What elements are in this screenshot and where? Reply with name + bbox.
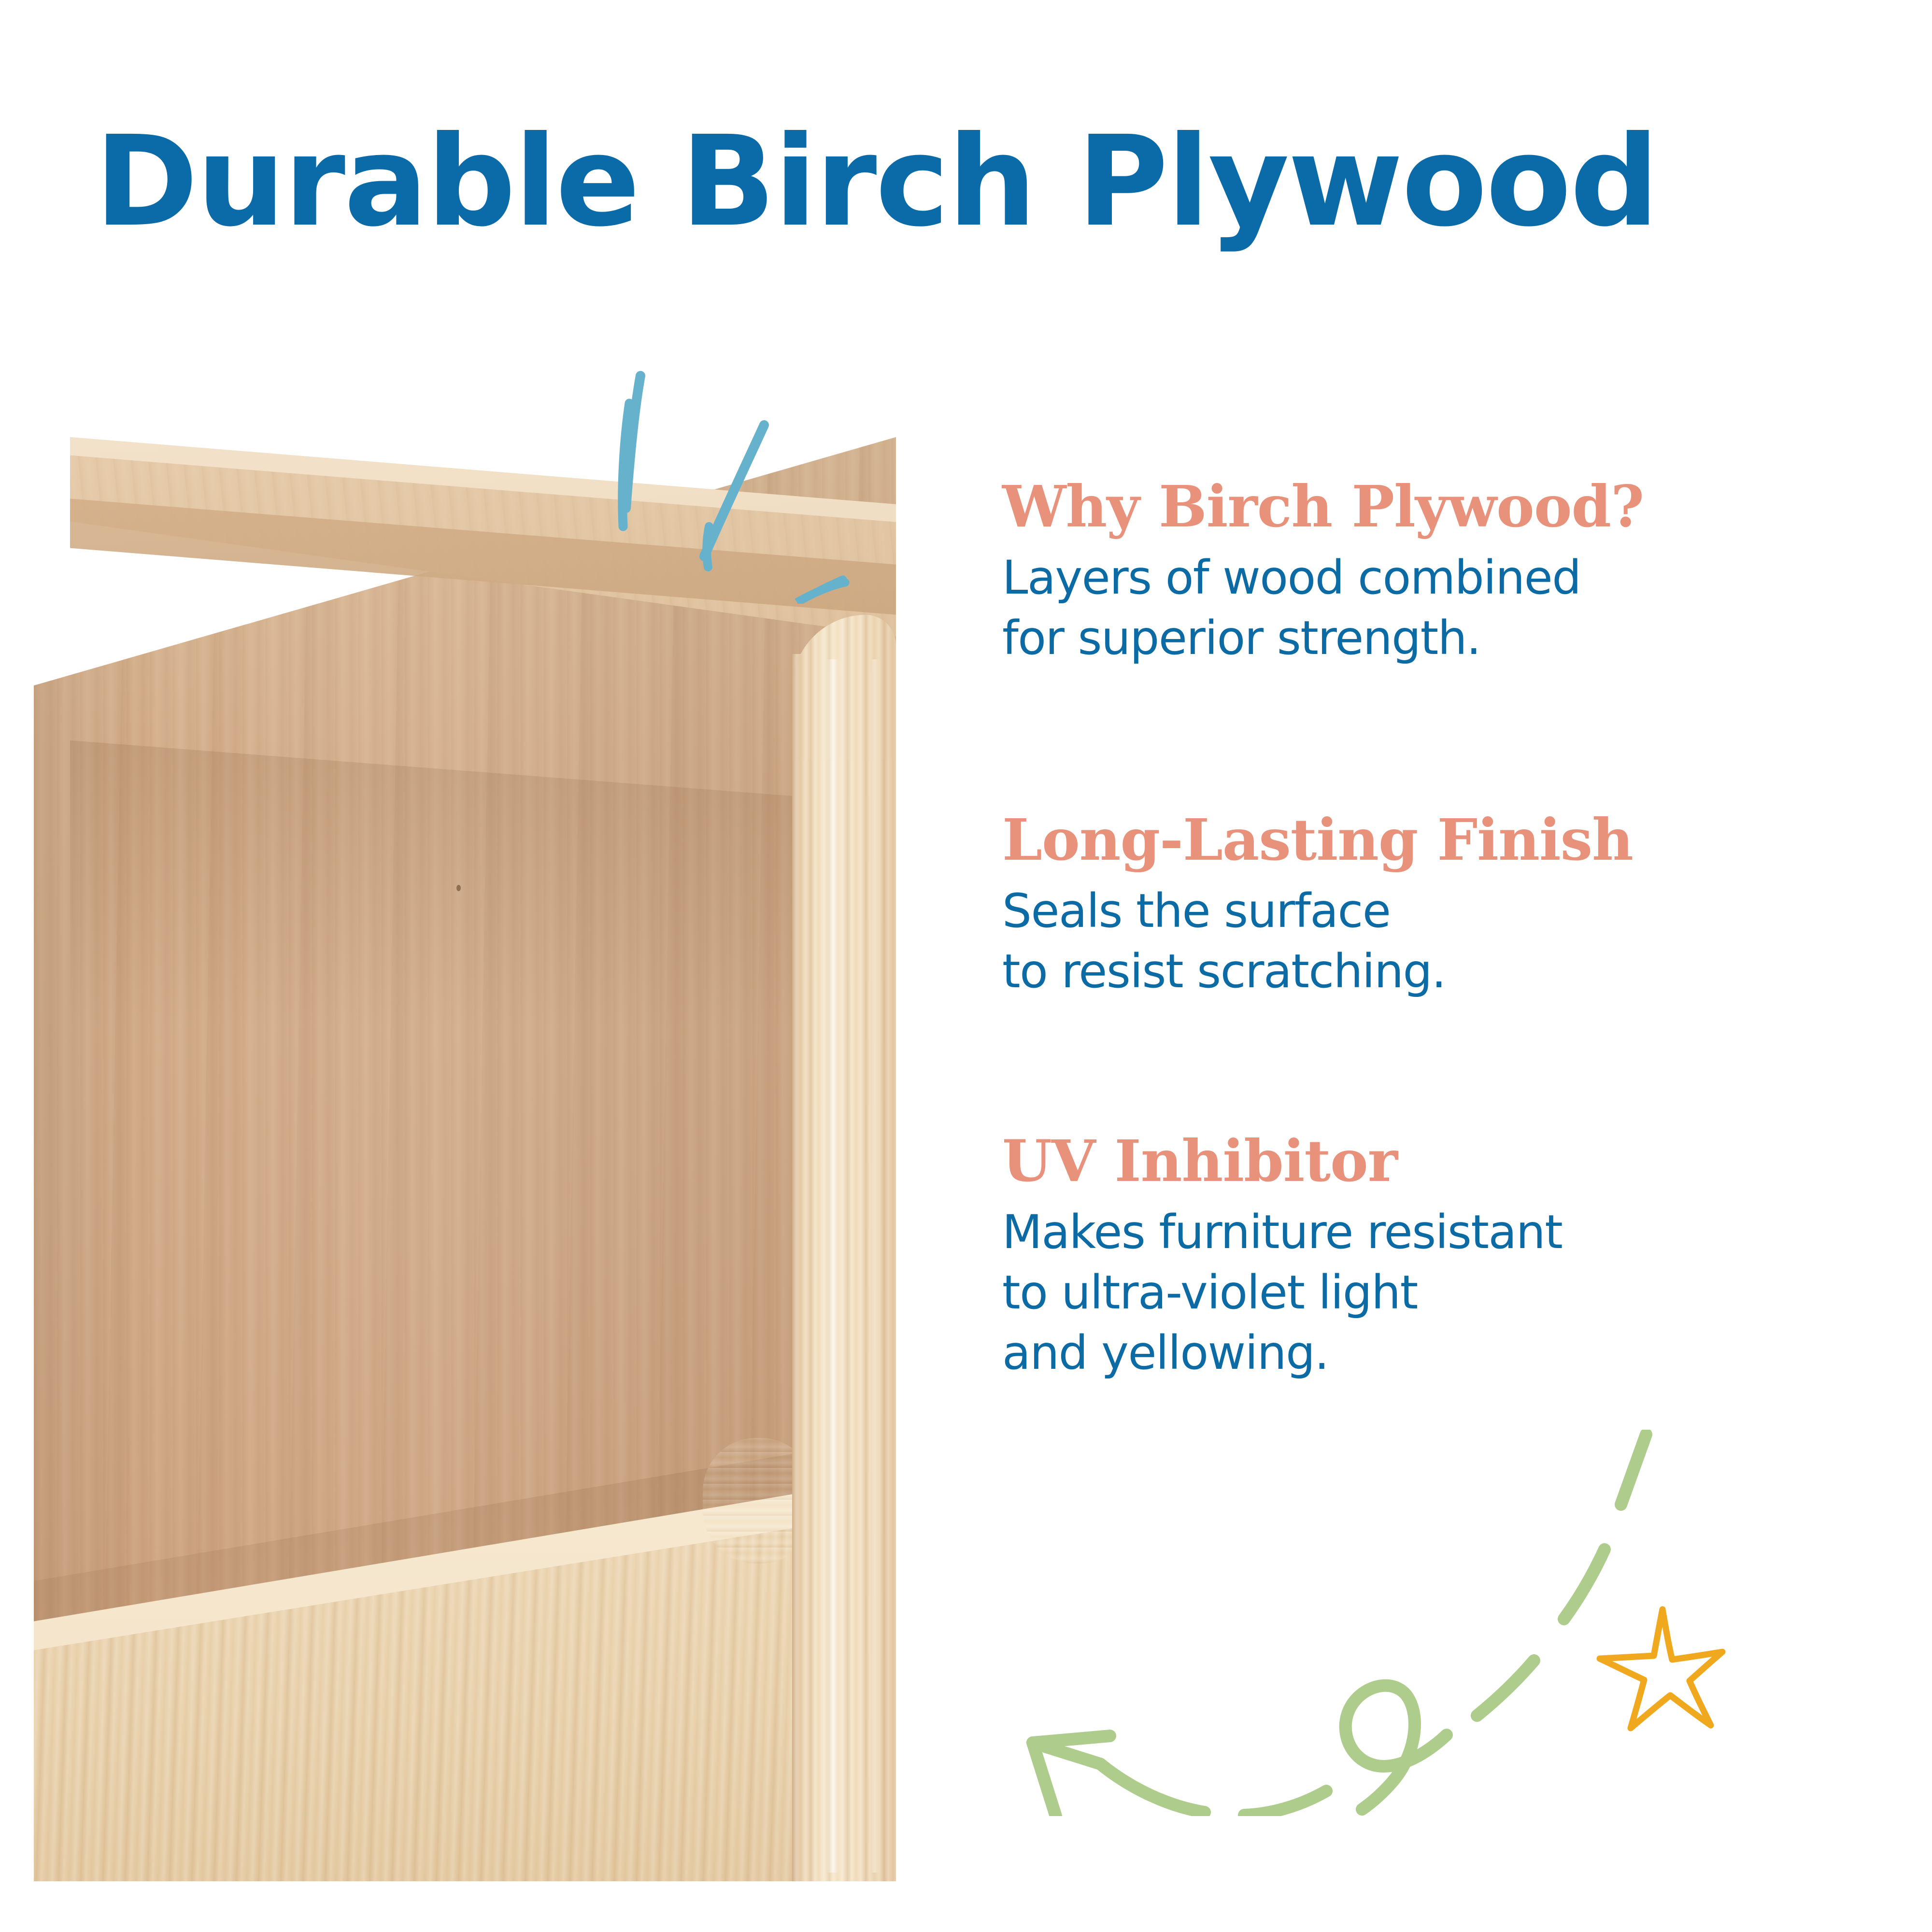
edge-gloss-highlight xyxy=(826,659,839,1873)
feature-body-2-line-2: to resist scratching. xyxy=(1002,941,1872,1002)
feature-block-1: Why Birch Plywood? Layers of wood combin… xyxy=(1002,478,1872,668)
feature-body-3-line-2: to ultra-violet light xyxy=(1002,1263,1872,1323)
infographic-canvas: Durable Birch Plywood xyxy=(0,0,1932,1932)
feature-body-2-line-1: Seals the surface xyxy=(1002,881,1872,941)
feature-block-3: UV Inhibitor Makes furniture resistant t… xyxy=(1002,1133,1872,1383)
star-outline-icon xyxy=(1589,1594,1734,1739)
feature-body-3-line-3: and yellowing. xyxy=(1002,1323,1872,1383)
wood-grain-speck xyxy=(456,885,461,891)
page-title: Durable Birch Plywood xyxy=(95,116,1882,248)
feature-heading-2: Long-Lasting Finish xyxy=(1002,811,1872,868)
feature-body-1-line-2: for superior strength. xyxy=(1002,608,1872,668)
feature-body-2: Seals the surface to resist scratching. xyxy=(1002,881,1872,1002)
feature-body-3: Makes furniture resistant to ultra-viole… xyxy=(1002,1202,1872,1383)
edge-gloss-highlight-secondary xyxy=(871,659,879,1873)
feature-block-2: Long-Lasting Finish Seals the surface to… xyxy=(1002,811,1872,1002)
plywood-edge-plies xyxy=(792,654,896,1882)
feature-body-3-line-1: Makes furniture resistant xyxy=(1002,1202,1872,1263)
product-photo xyxy=(34,437,896,1881)
feature-heading-3: UV Inhibitor xyxy=(1002,1133,1872,1190)
feature-body-1-line-1: Layers of wood combined xyxy=(1002,548,1872,608)
feature-heading-1: Why Birch Plywood? xyxy=(1002,478,1872,535)
curved-dashed-arrow-icon xyxy=(1009,1430,1695,1816)
feature-body-1: Layers of wood combined for superior str… xyxy=(1002,548,1872,668)
plywood-cabinet-image xyxy=(34,437,896,1881)
